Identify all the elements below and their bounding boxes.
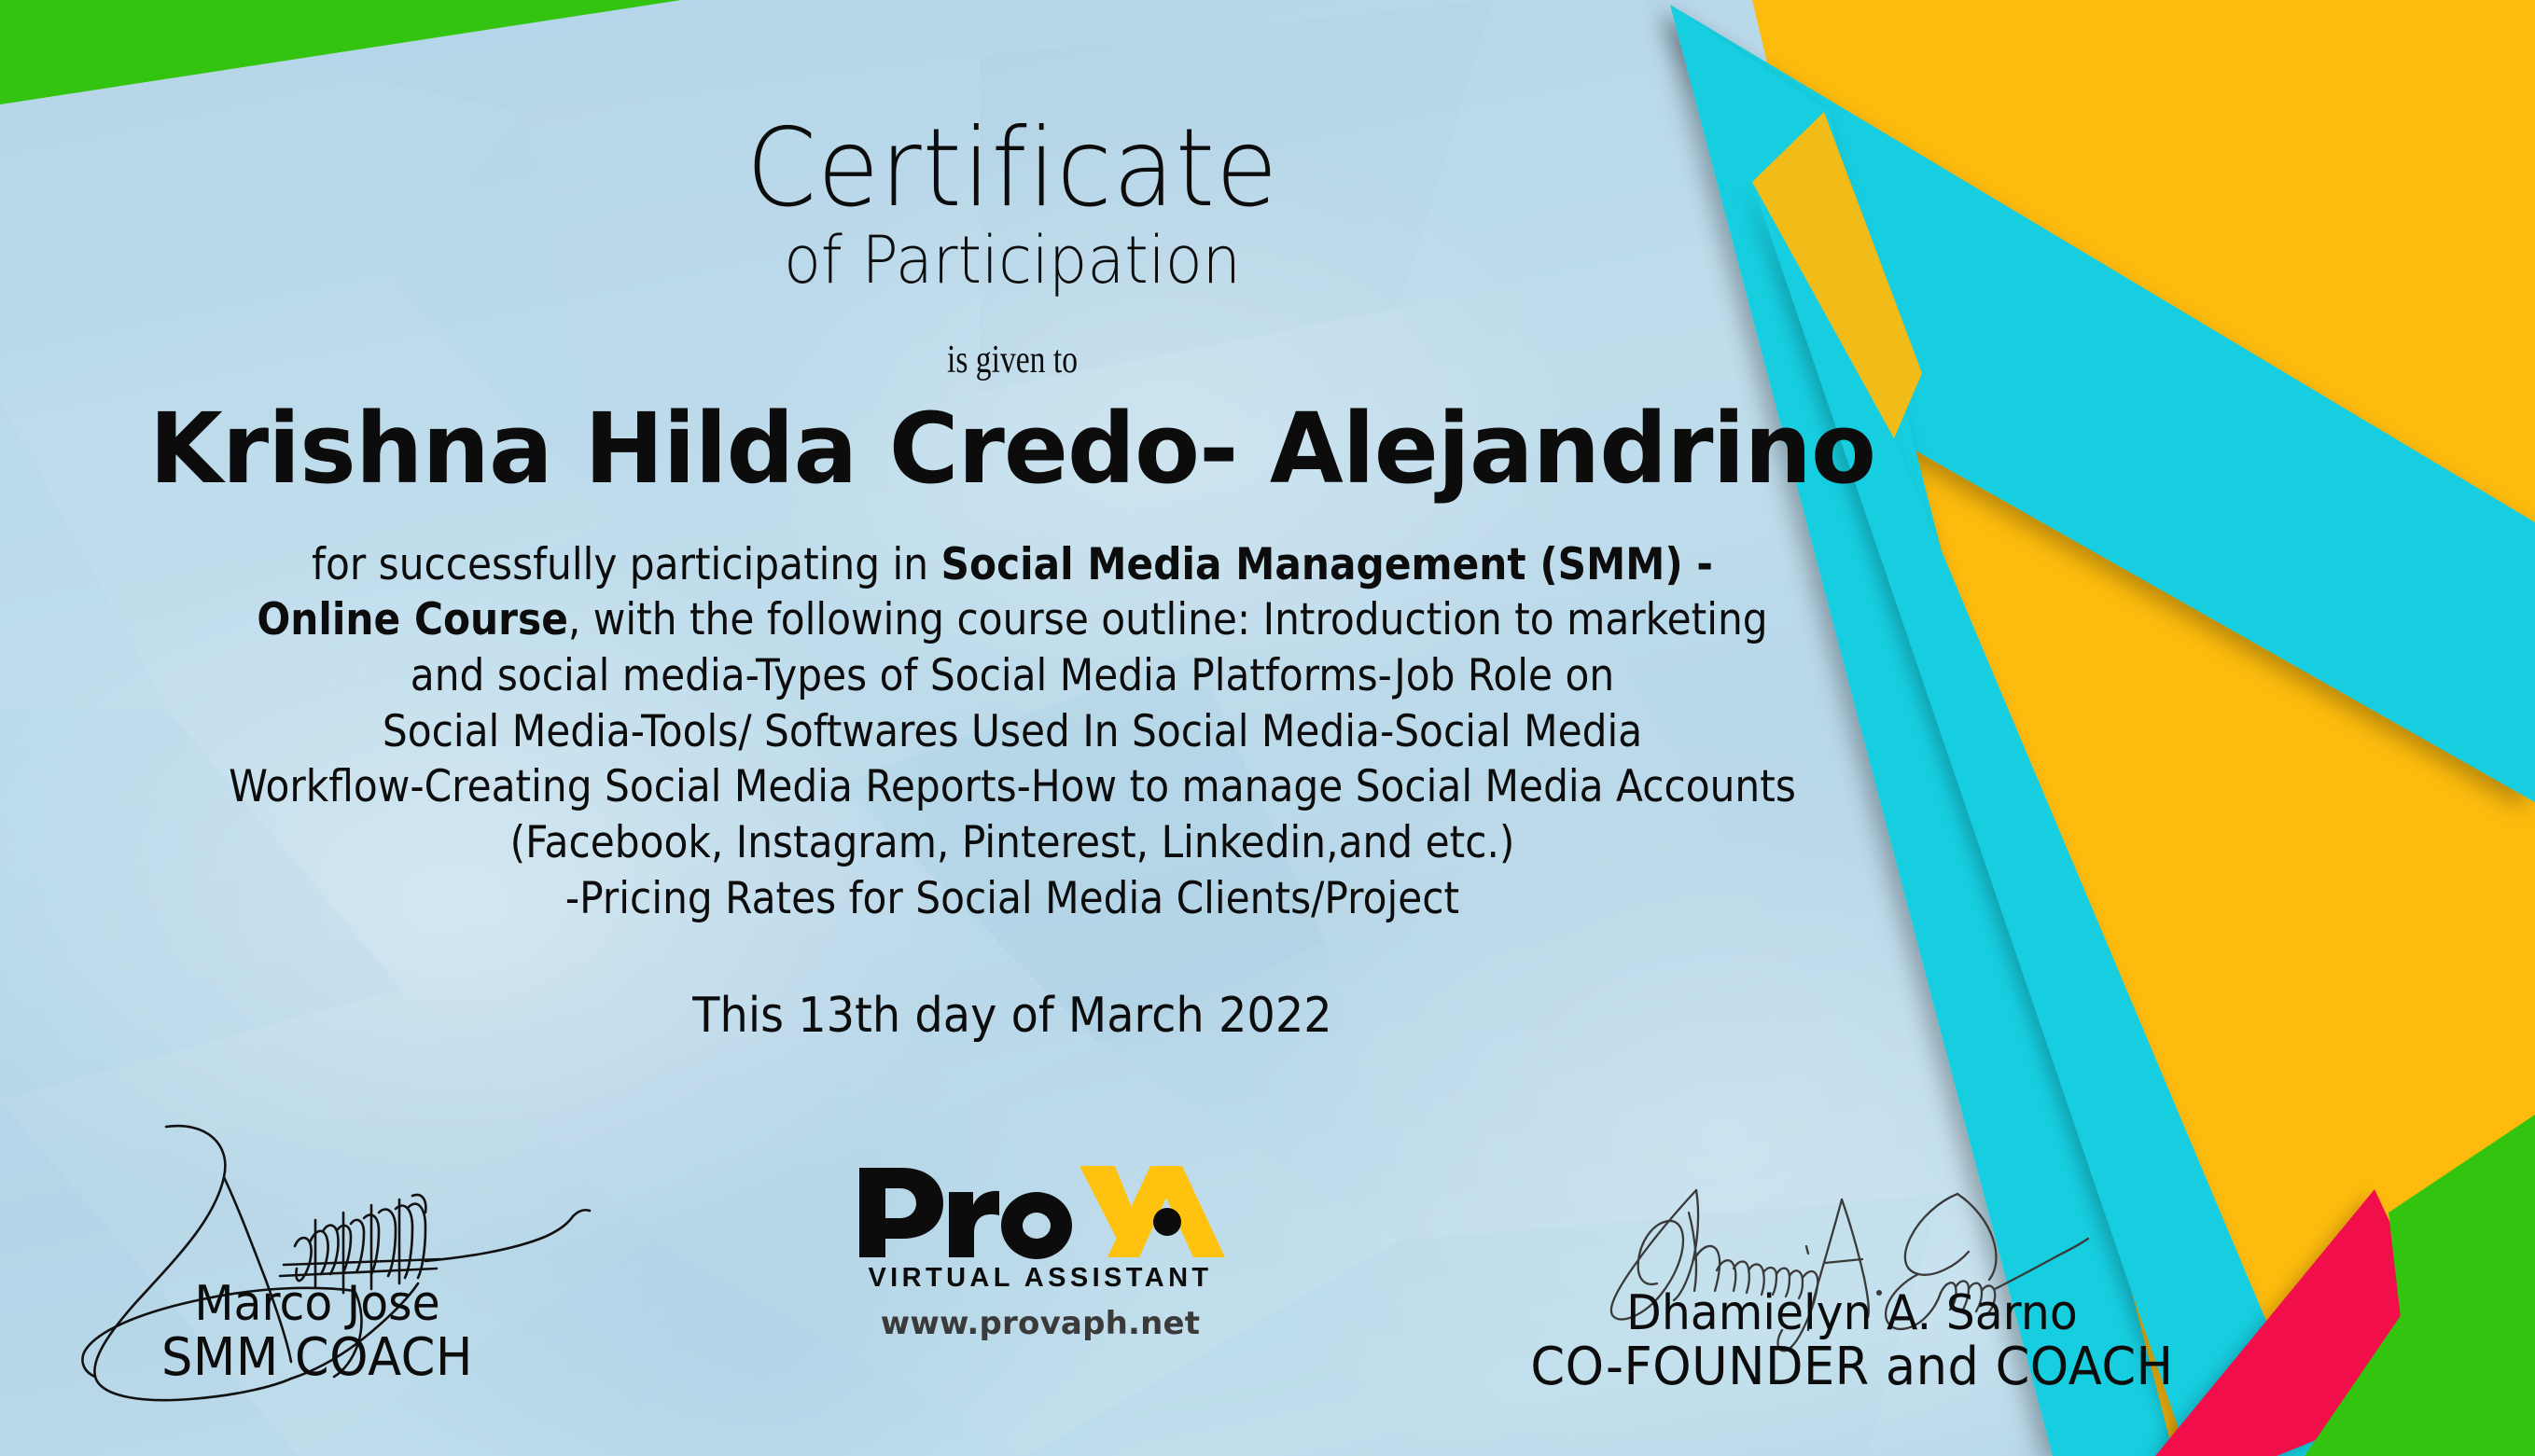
body-line-1: for successfully participating in Social… — [102, 537, 1924, 593]
signatory-role-left: SMM COACH — [36, 1330, 598, 1386]
signature-block-left: Marco Jose SMM COACH — [19, 1278, 616, 1387]
certificate-content: Certificate of Participation is given to… — [0, 0, 2025, 1044]
body-line-4: Social Media-Tools/ Softwares Used In So… — [102, 704, 1924, 760]
date-line: This 13th day of March 2022 — [81, 988, 1943, 1044]
body-line-1-bold: Social Media Management (SMM) - — [941, 539, 1713, 590]
body-line-3: and social media-Types of Social Media P… — [102, 648, 1924, 704]
body-line-7: -Pricing Rates for Social Media Clients/… — [102, 871, 1924, 927]
signatory-name-right: Dhamielyn A. Sarno — [1440, 1287, 2264, 1339]
body-line-6: (Facebook, Instagram, Pinterest, Linkedi… — [102, 815, 1924, 871]
prova-wordmark-icon — [854, 1164, 1227, 1261]
body-line-2-normal: , with the following course outline: Int… — [568, 594, 1768, 645]
body-line-2-bold: Online Course — [257, 594, 568, 645]
signatory-name-left: Marco Jose — [36, 1278, 598, 1330]
given-to-label: is given to — [202, 338, 1822, 382]
recipient-name: Krishna Hilda Credo- Alejandrino — [21, 392, 2005, 506]
prova-url: www.provaph.net — [844, 1305, 1236, 1342]
prova-logo: VIRTUAL ASSISTANT www.provaph.net — [844, 1164, 1236, 1342]
body-line-2: Online Course, with the following course… — [102, 592, 1924, 648]
body-line-1-normal: for successfully participating in — [312, 539, 940, 590]
certificate-canvas: Certificate of Participation is given to… — [0, 0, 2535, 1456]
certificate-subtitle: of Participation — [71, 228, 1954, 293]
signature-block-right: Dhamielyn A. Sarno CO-FOUNDER and COACH — [1414, 1287, 2291, 1396]
body-line-5: Workflow-Creating Social Media Reports-H… — [102, 759, 1924, 815]
certificate-title: Certificate — [71, 116, 1954, 222]
prova-tagline: VIRTUAL ASSISTANT — [844, 1263, 1236, 1294]
signatory-role-right: CO-FOUNDER and COACH — [1440, 1339, 2264, 1395]
certificate-body: for successfully participating in Social… — [102, 537, 1924, 927]
